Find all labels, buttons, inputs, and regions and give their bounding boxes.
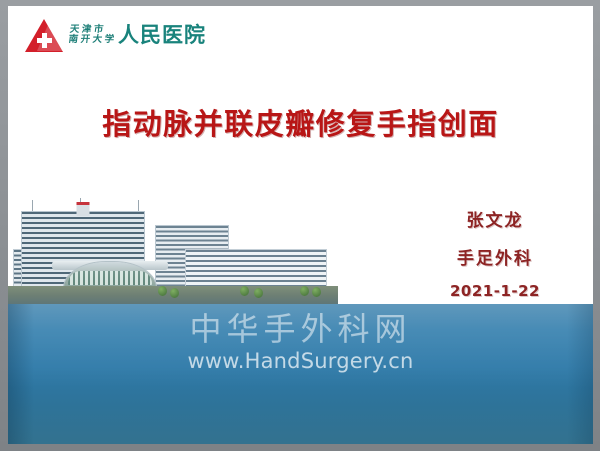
tree bbox=[312, 287, 321, 297]
hospital-logo-maintext: 人民医院 bbox=[118, 24, 206, 46]
presentation-date: 2021-1-22 bbox=[441, 282, 549, 300]
hospital-logo-subtext: 天津市 南开大学 bbox=[68, 25, 119, 46]
red-cross-triangle-icon bbox=[25, 17, 65, 53]
slide-viewer-frame: 天津市 南开大学 人民医院 指动脉并联皮瓣修复手指创面 bbox=[0, 0, 600, 451]
hospital-logo-text: 天津市 南开大学 人民医院 bbox=[69, 24, 206, 46]
band-left-shadow bbox=[8, 304, 34, 444]
tree bbox=[254, 288, 263, 298]
tree bbox=[300, 286, 309, 296]
tree bbox=[158, 286, 167, 296]
hospital-logo-line2: 南开大学 bbox=[68, 34, 117, 44]
tree bbox=[170, 288, 179, 298]
tree bbox=[240, 286, 249, 296]
building-wing-right bbox=[186, 250, 326, 290]
antenna-mast bbox=[138, 200, 139, 212]
hospital-logo: 天津市 南开大学 人民医院 bbox=[25, 13, 206, 57]
author-info: 张文龙 手足外科 2021-1-22 bbox=[441, 206, 549, 300]
hospital-logo-line1: 天津市 bbox=[69, 25, 118, 35]
bottom-blue-band bbox=[8, 304, 593, 444]
band-right-shadow bbox=[567, 304, 593, 444]
presentation-slide: 天津市 南开大学 人民医院 指动脉并联皮瓣修复手指创面 bbox=[8, 6, 593, 444]
hospital-building-photo bbox=[8, 181, 338, 310]
author-name: 张文龙 bbox=[441, 206, 549, 231]
author-department: 手足外科 bbox=[441, 244, 549, 269]
antenna-mast bbox=[32, 200, 33, 212]
band-sheen bbox=[8, 304, 593, 388]
slide-title: 指动脉并联皮瓣修复手指创面 bbox=[8, 101, 593, 143]
